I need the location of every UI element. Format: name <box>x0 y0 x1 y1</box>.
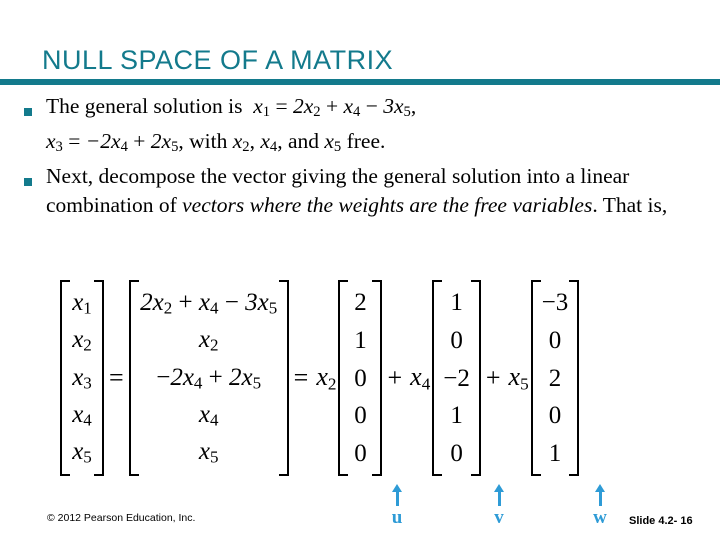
coefficient-x2: x2 <box>313 362 338 394</box>
bullet-2-italic: vectors where the weights are the free v… <box>182 193 592 217</box>
matrix-cell: 1 <box>542 439 569 468</box>
coefficient-x4: x4 <box>407 362 432 394</box>
matrix-cell: −2 <box>443 364 470 393</box>
matrix-cell: x5 <box>71 437 93 468</box>
matrix-cell: 0 <box>542 401 569 430</box>
matrix-cell: 1 <box>443 401 470 430</box>
matrix-cell: x4 <box>71 400 93 431</box>
pointer-v: v <box>488 484 510 529</box>
slide-canvas: { "slide": { "title": "NULL SPACE OF A M… <box>0 0 720 540</box>
matrix-cell: x1 <box>71 288 93 319</box>
slide-number: Slide 4.2- 16 <box>629 515 693 527</box>
matrix-cell: 0 <box>349 439 371 468</box>
lhs-vector: x1 x2 x3 x4 x5 <box>60 280 104 476</box>
basis-vector-u: 2 1 0 0 0 <box>338 280 382 476</box>
pointer-label-v: v <box>488 507 510 529</box>
plus-sign-1: + <box>382 363 407 393</box>
matrix-cell: x2 <box>140 325 278 356</box>
inline-equation-2: x3 = −2x4 + 2x5 <box>46 129 178 153</box>
inline-equation-1: x1 = 2x2 + x4 − 3x5, <box>248 94 416 118</box>
bullet-1-tail: , with x2, x4, and x5 free. <box>178 129 385 153</box>
matrix-cell: 2 <box>542 364 569 393</box>
plus-sign-2: + <box>481 363 506 393</box>
bullet-1-text: The general solution is x1 = 2x2 + x4 − … <box>46 92 700 162</box>
matrix-cell: x4 <box>140 400 278 431</box>
matrix-cell: 0 <box>349 401 371 430</box>
matrix-cell: 1 <box>443 288 470 317</box>
copyright-notice: © 2012 Pearson Education, Inc. <box>47 512 195 524</box>
equals-sign-2: = <box>289 363 314 393</box>
bullet-item-1: The general solution is x1 = 2x2 + x4 − … <box>24 92 700 162</box>
matrix-equation: x1 x2 x3 x4 x5 = 2x2 + x4 − 3x5 x2 −2x4 … <box>60 278 579 478</box>
page-title: NULL SPACE OF A MATRIX <box>42 45 393 76</box>
matrix-cell: 2x2 + x4 − 3x5 <box>140 288 278 319</box>
matrix-cell: 0 <box>542 326 569 355</box>
matrix-cell: x3 <box>71 363 93 394</box>
pointer-w: w <box>589 484 611 529</box>
matrix-cell: 1 <box>349 326 371 355</box>
matrix-cell: x2 <box>71 325 93 356</box>
equals-sign-1: = <box>104 363 129 393</box>
matrix-cell: −3 <box>542 288 569 317</box>
bullet-item-2: Next, decompose the vector giving the ge… <box>24 162 700 220</box>
matrix-cell: 2 <box>349 288 371 317</box>
pointer-u: u <box>386 484 408 529</box>
pointer-label-w: w <box>589 507 611 529</box>
matrix-cell: 0 <box>443 439 470 468</box>
bullet-1-lead: The general solution is <box>46 94 242 118</box>
slide-body: The general solution is x1 = 2x2 + x4 − … <box>24 92 700 220</box>
bullet-2-text: Next, decompose the vector giving the ge… <box>46 162 700 220</box>
coefficient-x5: x5 <box>506 362 531 394</box>
general-solution-vector: 2x2 + x4 − 3x5 x2 −2x4 + 2x5 x4 x5 <box>129 280 289 476</box>
matrix-cell: x5 <box>140 437 278 468</box>
matrix-cell: 0 <box>349 364 371 393</box>
pointer-label-u: u <box>386 507 408 529</box>
basis-vector-v: 1 0 −2 1 0 <box>432 280 481 476</box>
basis-vector-w: −3 0 2 0 1 <box>531 280 580 476</box>
bullet-2-roman-2: . That is, <box>592 193 667 217</box>
matrix-cell: −2x4 + 2x5 <box>140 363 278 394</box>
square-bullet-icon <box>24 162 46 191</box>
title-divider <box>0 79 720 85</box>
matrix-cell: 0 <box>443 326 470 355</box>
square-bullet-icon <box>24 92 46 121</box>
